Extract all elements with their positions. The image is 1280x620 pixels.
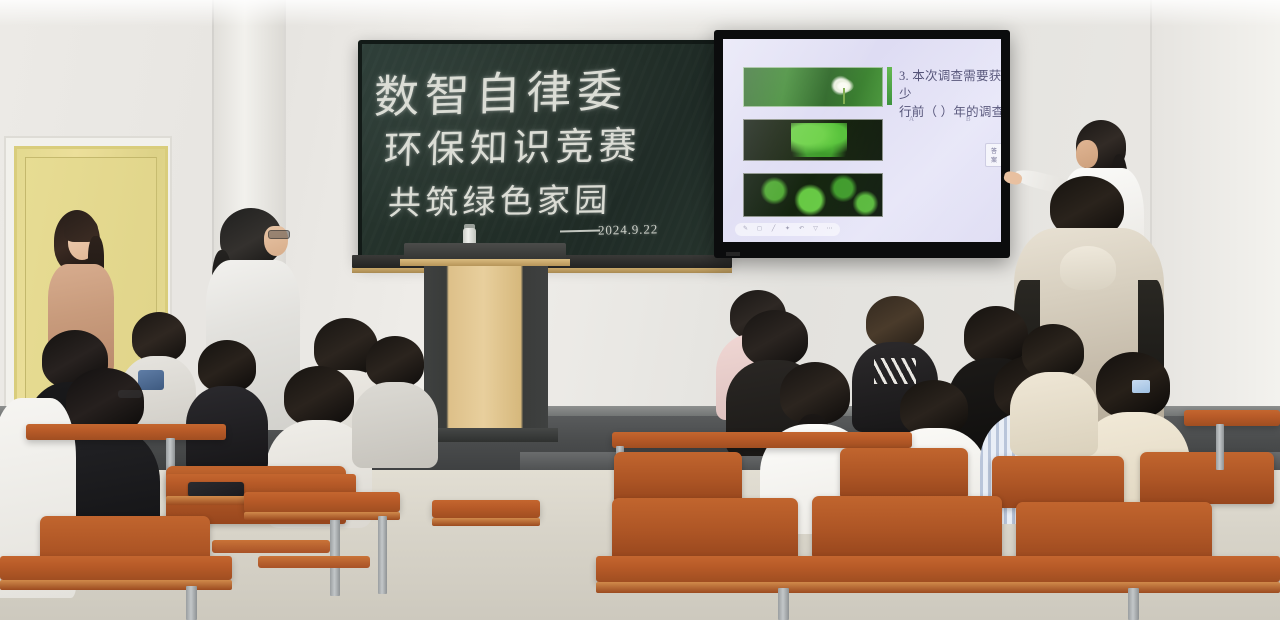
l8-hair (198, 340, 256, 392)
shapes-icon[interactable]: ✦ (784, 226, 791, 233)
slide-photo-clover (743, 173, 883, 217)
slide-question-line-1: 3. 本次调查需要获取至少 (899, 67, 1001, 103)
sprout-leaves (791, 123, 847, 157)
lectern-trim (400, 259, 570, 266)
presenter-glasses (268, 230, 290, 239)
blackboard-line-2: 环保知识竞赛 (383, 113, 722, 175)
lectern-top (404, 243, 566, 259)
slide-option-a[interactable]: A (909, 115, 914, 123)
slide-photo-flower (743, 67, 883, 107)
seat-pan-l2[interactable] (212, 540, 330, 553)
l5-glasses (118, 390, 142, 398)
ceiling-highlight (0, 0, 1280, 26)
r2-hair (742, 310, 808, 366)
slide-options: A B C (909, 115, 1001, 123)
desk-center-small-edge (432, 518, 540, 526)
l7-top (352, 382, 438, 468)
blackboard-line-1: 数智自律委 (373, 51, 722, 126)
blackboard-line-3: 共筑绿色家园 (387, 172, 722, 225)
pointer-face (1076, 140, 1098, 168)
flower-stem (843, 88, 845, 104)
seat-right-row2-b[interactable] (812, 496, 1002, 558)
desk-right-far[interactable] (1184, 410, 1280, 426)
slide-photo-sprout (743, 119, 883, 161)
desk-center-small[interactable] (432, 500, 540, 518)
blackboard-surface: 数智自律委 环保知识竞赛 共筑绿色家园 2024.9.22 (362, 44, 722, 258)
smart-board-screen[interactable]: 3. 本次调查需要获取至少 行前（ ）年的调查数据 A B C 答 案 ✎ ◻ … (723, 39, 1001, 242)
slide-option-b[interactable]: B (966, 115, 971, 123)
r9-hair (1022, 324, 1084, 378)
highlighter-icon[interactable]: ╱ (770, 226, 777, 233)
desk-left-row3-edge (0, 580, 232, 590)
classroom-scene: 数智自律委 环保知识竞赛 共筑绿色家园 2024.9.22 3. 本次调查需要获… (0, 0, 1280, 620)
smart-board[interactable]: 3. 本次调查需要获取至少 行前（ ）年的调查数据 A B C 答 案 ✎ ◻ … (714, 30, 1010, 258)
seat-right-row1-d[interactable] (1140, 452, 1274, 504)
l1-hair (132, 312, 186, 362)
desk-left-row3[interactable] (0, 556, 232, 580)
l4-hair (284, 366, 354, 426)
desk-left-row2b[interactable] (244, 492, 400, 512)
r3-hair (866, 296, 924, 348)
undo-icon[interactable]: ↶ (798, 226, 805, 233)
blackboard-date: 2024.9.22 (598, 221, 659, 238)
display-brand-logo (726, 252, 740, 256)
desk-leg-r4 (1216, 424, 1224, 470)
more-icon[interactable]: ⋯ (826, 226, 833, 233)
desk-leg-r3 (1128, 588, 1139, 620)
slide-question: 3. 本次调查需要获取至少 行前（ ）年的调查数据 (899, 67, 1001, 121)
seat-pan-l4[interactable] (258, 556, 370, 568)
desk-left-row2b-edge (244, 512, 400, 520)
desk-left-row1[interactable] (26, 424, 226, 440)
seated-student-r9 (1010, 324, 1098, 444)
beige-jacket-hood (1060, 246, 1116, 290)
answer-chip[interactable]: 答 案 (985, 143, 1001, 167)
seat-right-row1-b[interactable] (840, 448, 968, 498)
seat-right-row1-a[interactable] (614, 452, 742, 502)
smartphone-on-desk[interactable] (188, 482, 244, 497)
save-icon[interactable]: ▽ (812, 226, 819, 233)
l7-hair (366, 336, 424, 388)
blackboard-dash (560, 229, 600, 232)
seated-student-l7 (352, 336, 438, 456)
desk-right-row2[interactable] (596, 556, 1280, 582)
seat-right-row1-c[interactable] (992, 456, 1124, 508)
eraser-icon[interactable]: ◻ (756, 226, 763, 233)
pen-icon[interactable]: ✎ (742, 226, 749, 233)
seat-right-row2-a[interactable] (612, 498, 798, 560)
slide-accent-bar (887, 67, 892, 105)
smart-board-toolbar[interactable]: ✎ ◻ ╱ ✦ ↶ ▽ ⋯ (735, 223, 840, 236)
desk-leg-r2 (778, 588, 789, 620)
desk-leg-l4 (378, 516, 387, 594)
blackboard: 数智自律委 环保知识竞赛 共筑绿色家园 2024.9.22 (358, 40, 726, 262)
desk-right-row1[interactable] (612, 432, 912, 448)
desk-leg-l3 (186, 586, 197, 620)
lectern-body (424, 266, 548, 434)
desk-right-row2-edge (596, 582, 1280, 593)
seated-student-l8 (186, 340, 268, 460)
r8-hair-clip (1132, 380, 1150, 393)
r9-top (1010, 372, 1098, 456)
